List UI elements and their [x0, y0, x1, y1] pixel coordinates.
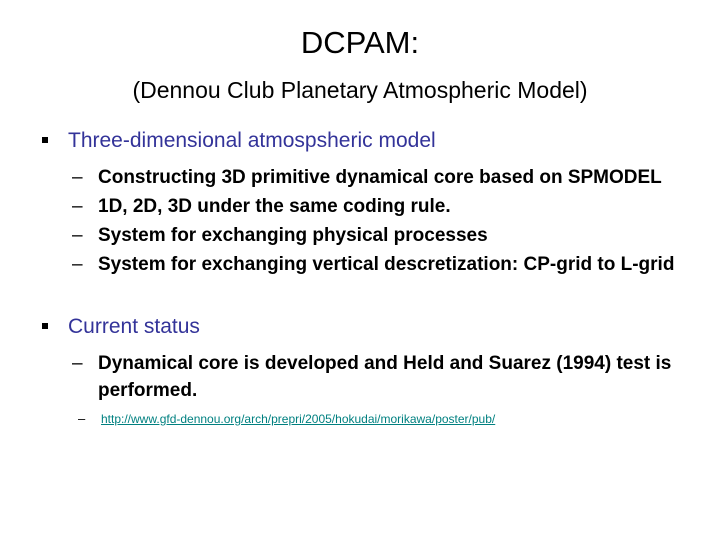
square-bullet-icon	[42, 323, 48, 329]
dash-bullet-icon: –	[72, 350, 83, 377]
section-heading: Current status	[68, 314, 684, 340]
list-item-label: System for exchanging physical processes	[98, 222, 683, 249]
section-item-list: – Constructing 3D primitive dynamical co…	[36, 164, 684, 278]
slide-body: Three-dimensional atmospsheric model – C…	[36, 128, 684, 428]
list-item: – Dynamical core is developed and Held a…	[36, 350, 684, 404]
list-item: – System for exchanging physical process…	[36, 222, 684, 249]
reference-link[interactable]: http://www.gfd-dennou.org/arch/prepri/20…	[101, 410, 495, 428]
page-subtitle: (Dennou Club Planetary Atmospheric Model…	[0, 76, 720, 104]
list-item: – Constructing 3D primitive dynamical co…	[36, 164, 684, 191]
list-item: – System for exchanging vertical descret…	[36, 251, 684, 278]
dash-bullet-icon: –	[72, 222, 83, 249]
dash-bullet-icon: –	[72, 251, 83, 278]
dash-bullet-icon: –	[72, 193, 83, 220]
slide-canvas: DCPAM: (Dennou Club Planetary Atmospheri…	[0, 0, 720, 540]
section-heading-row: Three-dimensional atmospsheric model	[36, 128, 684, 154]
section-spacer	[36, 280, 684, 314]
section-item-list: – Dynamical core is developed and Held a…	[36, 350, 684, 404]
link-row: – http://www.gfd-dennou.org/arch/prepri/…	[36, 410, 684, 428]
square-bullet-icon	[42, 137, 48, 143]
list-item-label: 1D, 2D, 3D under the same coding rule.	[98, 193, 683, 220]
list-item: – 1D, 2D, 3D under the same coding rule.	[36, 193, 684, 220]
list-item-label: System for exchanging vertical descretiz…	[98, 251, 683, 278]
dash-bullet-icon: –	[72, 164, 83, 191]
dash-bullet-icon: –	[78, 410, 85, 428]
list-item-label: Dynamical core is developed and Held and…	[98, 350, 683, 404]
title-block: DCPAM: (Dennou Club Planetary Atmospheri…	[0, 24, 720, 104]
page-title: DCPAM:	[0, 24, 720, 62]
section-heading: Three-dimensional atmospsheric model	[68, 128, 684, 154]
section-heading-row: Current status	[36, 314, 684, 340]
list-item-label: Constructing 3D primitive dynamical core…	[98, 164, 683, 191]
